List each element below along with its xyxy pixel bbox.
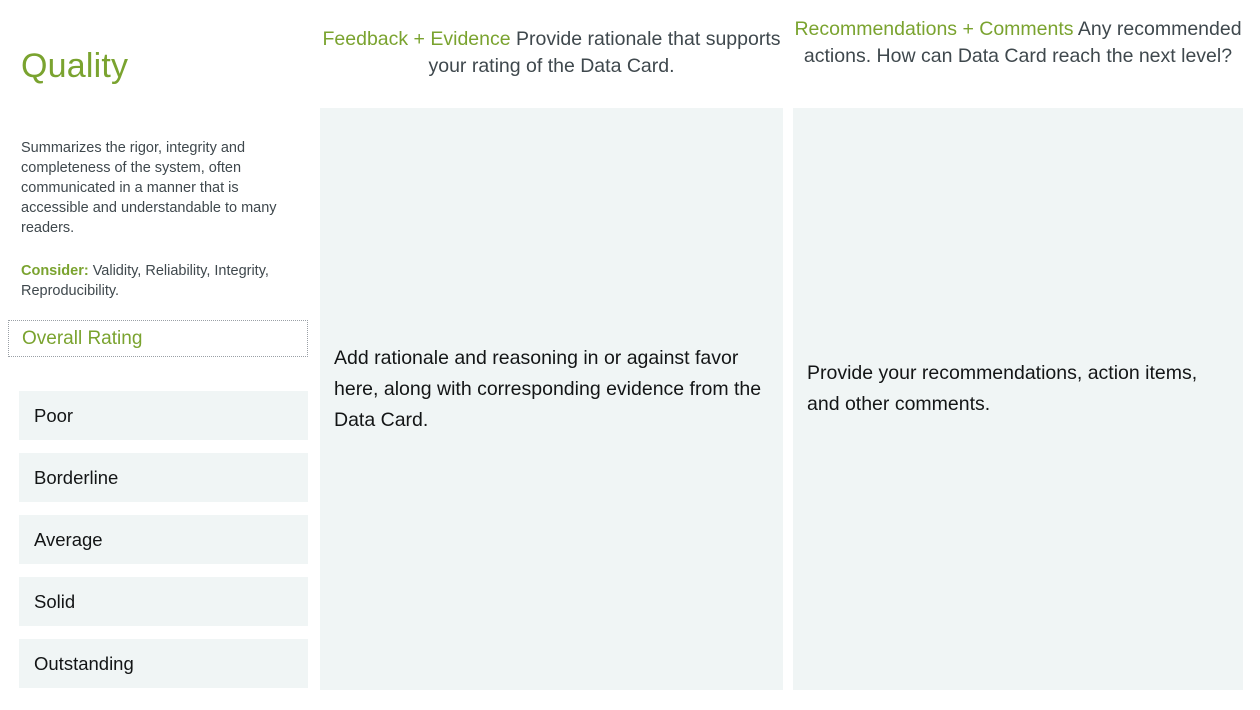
rating-option-outstanding[interactable]: Outstanding xyxy=(19,639,308,688)
rating-options-list: Poor Borderline Average Solid Outstandin… xyxy=(19,391,308,701)
recommendations-comments-header-accent: Recommendations + Comments xyxy=(794,18,1073,40)
dimension-description: Summarizes the rigor, integrity and comp… xyxy=(21,138,287,238)
overall-rating-label: Overall Rating xyxy=(9,327,142,351)
rating-option-label: Outstanding xyxy=(19,652,134,676)
recommendations-comments-input[interactable]: Provide your recommendations, action ite… xyxy=(793,108,1243,690)
recommendations-comments-column: Recommendations + Comments Any recommend… xyxy=(793,0,1243,710)
overall-rating-field[interactable]: Overall Rating xyxy=(8,320,308,357)
feedback-evidence-column: Feedback + Evidence Provide rationale th… xyxy=(320,0,783,710)
rating-option-solid[interactable]: Solid xyxy=(19,577,308,626)
rating-option-poor[interactable]: Poor xyxy=(19,391,308,440)
consider-label: Consider: xyxy=(21,263,89,279)
rating-option-label: Poor xyxy=(19,404,73,428)
consider-line: Consider: Validity, Reliability, Integri… xyxy=(21,261,283,301)
quality-dimension-sidebar: Quality Summarizes the rigor, integrity … xyxy=(0,0,318,710)
rating-option-borderline[interactable]: Borderline xyxy=(19,453,308,502)
feedback-evidence-placeholder: Add rationale and reasoning in or agains… xyxy=(334,343,767,436)
rating-option-label: Borderline xyxy=(19,466,118,490)
rating-option-label: Solid xyxy=(19,590,75,614)
feedback-evidence-input[interactable]: Add rationale and reasoning in or agains… xyxy=(320,108,783,690)
feedback-evidence-header-accent: Feedback + Evidence xyxy=(323,28,511,50)
feedback-evidence-header: Feedback + Evidence Provide rationale th… xyxy=(320,26,783,80)
rating-option-average[interactable]: Average xyxy=(19,515,308,564)
page-title: Quality xyxy=(21,46,128,86)
rating-option-label: Average xyxy=(19,528,103,552)
recommendations-comments-header: Recommendations + Comments Any recommend… xyxy=(793,16,1243,70)
recommendations-comments-placeholder: Provide your recommendations, action ite… xyxy=(807,358,1227,420)
